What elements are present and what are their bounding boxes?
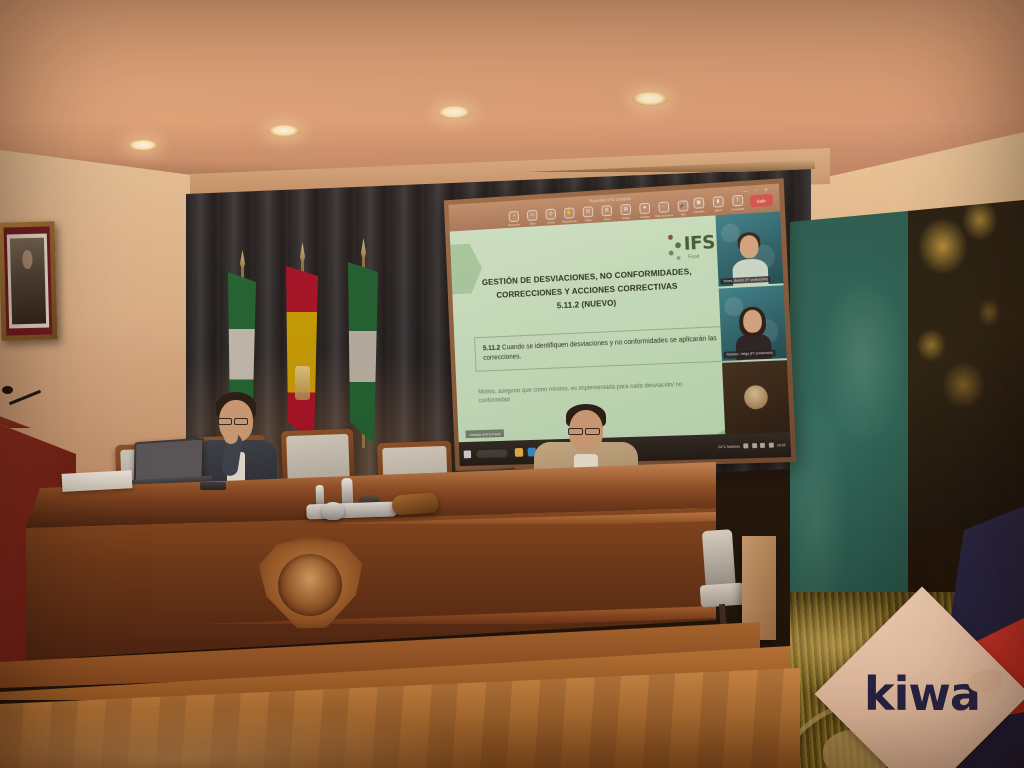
- video-tile-2[interactable]: Ramírez, Helga (FT producción): [719, 286, 787, 361]
- slide-page-label: Versión 8 IFS Food: [465, 429, 504, 438]
- share-icon: ⇧: [732, 195, 743, 207]
- conference-room-photo: kiwa Reunión IFS Gestión — ▫ ✕ ◔ Duració…: [0, 0, 1024, 768]
- banner-foliage-panel: [908, 200, 1024, 530]
- teams-tool-rooms[interactable]: ⊟ Salas: [581, 206, 596, 223]
- ifs-dot: [668, 235, 673, 240]
- ifs-wordmark: IFS: [683, 231, 715, 254]
- battery-icon[interactable]: [768, 443, 773, 448]
- attendee-left-hand: [224, 430, 238, 444]
- kiwa-banner: kiwa: [790, 200, 1024, 768]
- glasses-icon: [234, 418, 248, 425]
- teams-tool-notes[interactable]: ▤ Notas: [618, 204, 633, 221]
- teams-tool-more[interactable]: ⋯ Más acciones: [656, 201, 671, 218]
- downlight-3: [437, 106, 471, 119]
- explorer-icon[interactable]: [515, 448, 524, 457]
- slide-note: Motivo, asegurar que como mínimo, es imp…: [478, 379, 704, 405]
- chevron-up-icon[interactable]: [743, 443, 748, 448]
- raise-hand-icon: ✋: [564, 207, 575, 218]
- teams-tool-people[interactable]: ◎ Gente: [544, 209, 559, 225]
- leave-meeting-button[interactable]: Salir: [750, 194, 773, 207]
- microphone-icon: ▮: [712, 196, 723, 208]
- more-icon: ⋯: [658, 201, 669, 212]
- record-icon: ⏺: [639, 203, 650, 214]
- teams-share-button[interactable]: ⇧ Compartir: [730, 195, 745, 212]
- weather-status: 24°C Nubloso: [718, 444, 740, 449]
- avatar-tile-3[interactable]: [722, 360, 790, 434]
- teams-tool-apps[interactable]: ⊞ Apps: [600, 205, 615, 222]
- slide-clause-number: 5.11.2: [483, 345, 501, 352]
- tray-plate: [306, 501, 396, 519]
- teams-tool-record[interactable]: ⏺ Grabar: [637, 203, 652, 220]
- chat-icon: ▭: [527, 210, 538, 221]
- start-icon[interactable]: [464, 450, 472, 458]
- desk-device: [200, 482, 226, 490]
- clock[interactable]: 15:42: [777, 443, 786, 447]
- glasses-icon: [585, 428, 600, 435]
- downlight-4: [632, 92, 668, 106]
- framed-portrait: [0, 221, 58, 340]
- avatar: [744, 385, 769, 410]
- kiwa-wordmark: kiwa: [846, 618, 998, 768]
- slide-clause-text: Cuando se identifiquen desviaciones y no…: [483, 335, 717, 362]
- slide-decoration-hexagon: [450, 243, 484, 295]
- slide-title: GESTIÓN DE DESVIACIONES, NO CONFORMIDADE…: [479, 264, 696, 316]
- glasses-icon: [568, 428, 583, 435]
- taskbar-tray[interactable]: 24°C Nubloso 15:42: [718, 442, 786, 449]
- slide-clause-box: 5.11.2 Cuando se identifiquen desviacion…: [474, 325, 742, 372]
- clock-icon: ◔: [509, 211, 520, 222]
- teams-tool-duration[interactable]: ◔ Duración: [507, 211, 521, 227]
- volume-icon[interactable]: [760, 443, 765, 448]
- network-icon[interactable]: [752, 443, 757, 448]
- microphone-icon: [2, 372, 44, 408]
- ifs-dot: [677, 256, 681, 260]
- notes-icon: ▤: [620, 204, 631, 215]
- teams-tool-mic[interactable]: 🎤 Mic: [676, 200, 691, 217]
- people-icon: ◎: [545, 209, 556, 220]
- teams-tool-react[interactable]: ✋ Reaccionar: [562, 207, 577, 224]
- downlight-2: [268, 125, 300, 137]
- teams-video-tiles: Torres, Beatriz (FT producción) Ramírez,…: [715, 211, 790, 434]
- teams-microphone-button[interactable]: ▮ Micro: [711, 196, 726, 213]
- flag-spain: [286, 262, 320, 448]
- ifs-dot: [675, 242, 681, 248]
- papers: [62, 470, 133, 492]
- bell: [322, 502, 344, 520]
- spain-coat-of-arms: [295, 366, 310, 400]
- search-input[interactable]: [476, 449, 507, 458]
- camera-icon: ▣: [693, 197, 704, 209]
- teams-tool-chat[interactable]: ▭ Chat: [525, 210, 540, 226]
- video-tile-1[interactable]: Torres, Beatriz (FT producción): [715, 211, 783, 286]
- ifs-subtext: Food: [688, 254, 699, 261]
- mic-icon: 🎤: [678, 200, 689, 211]
- rooms-icon: ⊟: [583, 206, 594, 217]
- glasses-icon: [218, 418, 232, 425]
- ifs-dot: [669, 250, 674, 255]
- teams-camera-button[interactable]: ▣ Cámara: [691, 197, 706, 214]
- silver-tray-figurines: [305, 476, 396, 519]
- flag-andalusia-right: [348, 258, 380, 448]
- gavel: [391, 492, 438, 515]
- apps-icon: ⊞: [601, 205, 612, 216]
